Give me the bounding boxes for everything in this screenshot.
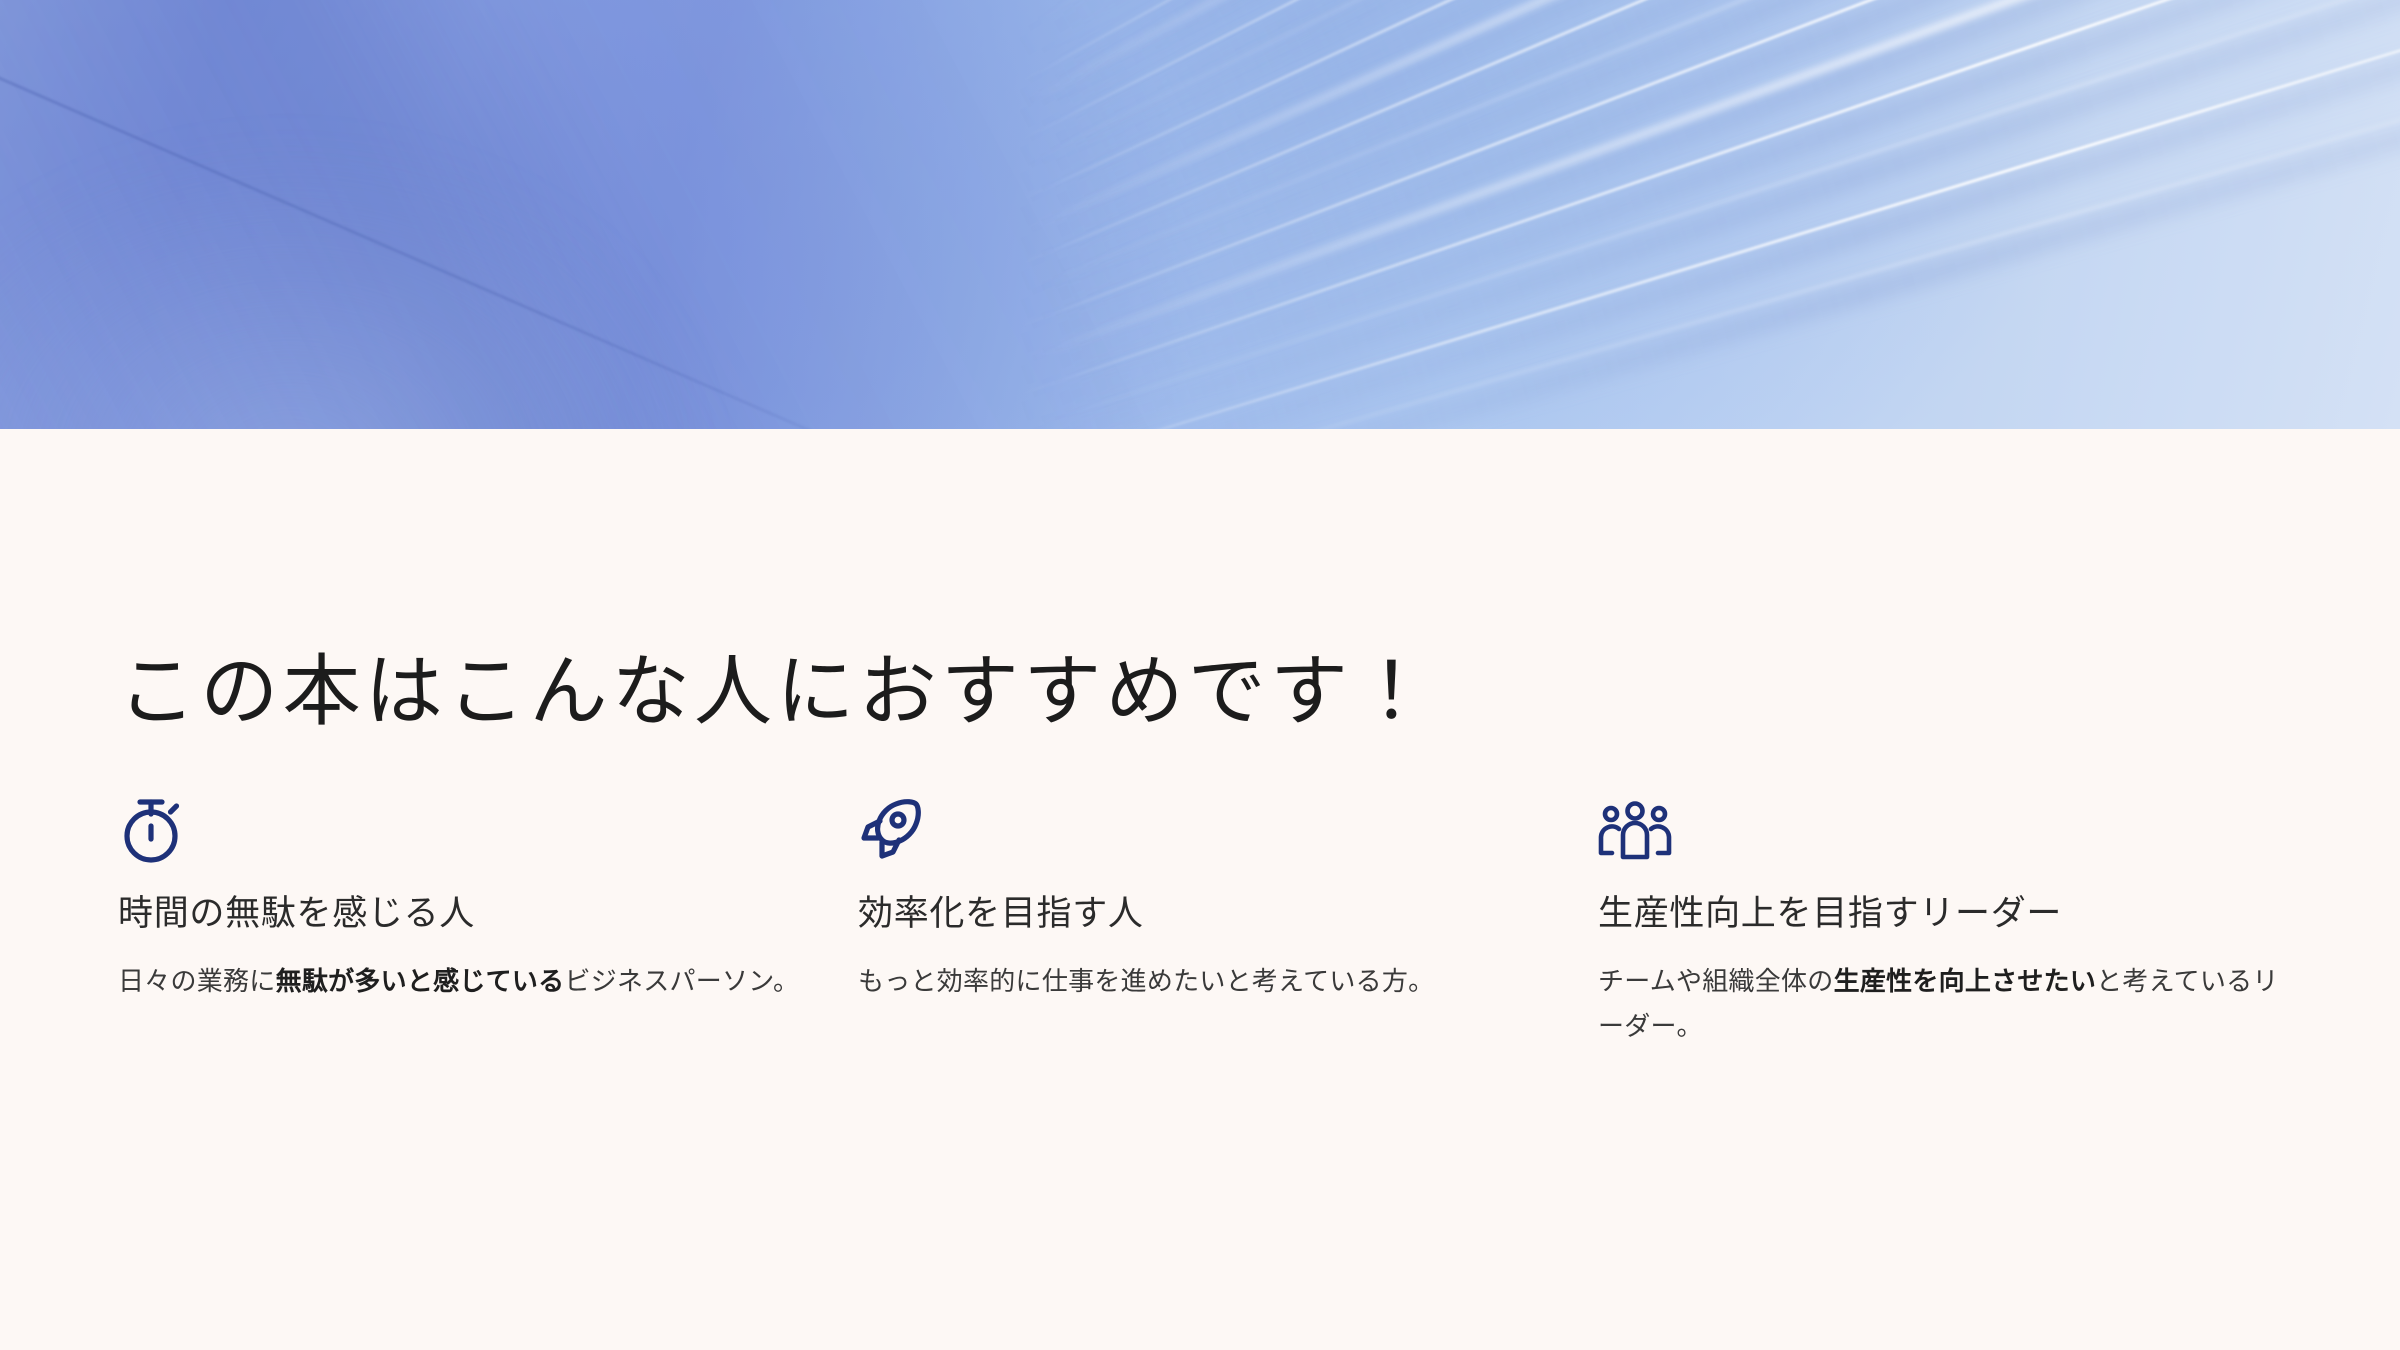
people-group-icon <box>1598 795 2338 863</box>
card-body: チームや組織全体の生産性を向上させたいと考えているリーダー。 <box>1598 959 2298 1050</box>
card-body: 日々の業務に無駄が多いと感じているビジネスパーソン。 <box>118 959 818 1005</box>
card-time-waste: 時間の無駄を感じる人 日々の業務に無駄が多いと感じているビジネスパーソン。 <box>118 795 858 1050</box>
card-title: 生産性向上を目指すリーダー <box>1598 891 2338 937</box>
card-title: 時間の無駄を感じる人 <box>118 891 858 937</box>
hero-light-streaks <box>1020 0 2400 429</box>
page-title: この本はこんな人におすすめです！ <box>118 647 1435 737</box>
rocket-icon <box>858 795 1598 863</box>
hero-banner <box>0 0 2400 429</box>
stopwatch-icon <box>118 795 858 863</box>
card-leader: 生産性向上を目指すリーダー チームや組織全体の生産性を向上させたいと考えているリ… <box>1598 795 2338 1050</box>
card-body: もっと効率的に仕事を進めたいと考えている方。 <box>858 959 1558 1005</box>
card-efficiency: 効率化を目指す人 もっと効率的に仕事を進めたいと考えている方。 <box>858 795 1598 1050</box>
recommendation-cards: 時間の無駄を感じる人 日々の業務に無駄が多いと感じているビジネスパーソン。 効率… <box>118 795 2328 1050</box>
content-section: この本はこんな人におすすめです！ 時間の無駄を感じる人 日々の業務に無駄が多いと… <box>0 429 2400 1350</box>
card-title: 効率化を目指す人 <box>858 891 1598 937</box>
